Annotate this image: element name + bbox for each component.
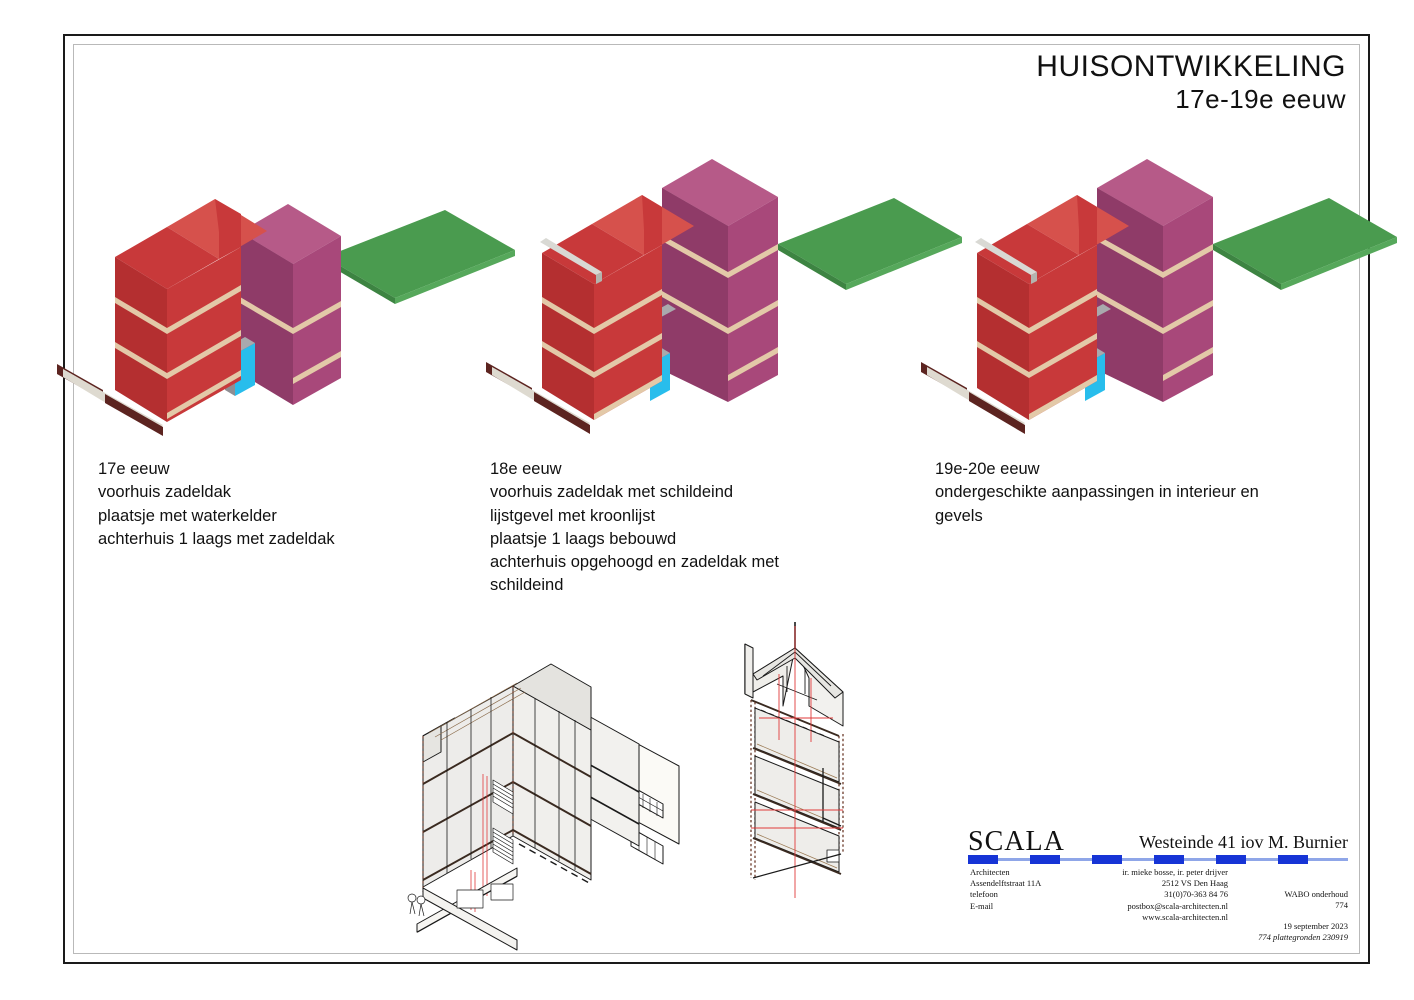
caption-line: achterhuis 1 laags met zadeldak: [98, 528, 335, 551]
phase-model-18e: [490, 132, 930, 462]
drawing-sheet: HUISONTWIKKELING 17e-19e eeuw: [63, 34, 1370, 964]
isometric-cross-section: [713, 622, 883, 922]
caption-line: 18e eeuw: [490, 458, 779, 481]
sheet-title-subtitle: 17e-19e eeuw: [1036, 84, 1346, 115]
address-row: www.scala-architecten.nl: [970, 912, 1228, 923]
drawing-filename: 774 plattegronden 230919: [1258, 932, 1348, 943]
titleblock-rule: [968, 855, 1348, 864]
address-label: [970, 912, 1054, 923]
caption-line: 17e eeuw: [98, 458, 335, 481]
titleblock-header: SCALA Westeinde 41 iov M. Burnier: [968, 820, 1348, 854]
titleblock: SCALA Westeinde 41 iov M. Burnier Archit…: [968, 820, 1348, 930]
project-number: 774: [1258, 900, 1348, 911]
project-title: Westeinde 41 iov M. Burnier: [1139, 832, 1348, 853]
titleblock-body: Architecten ir. mieke bosse, ir. peter d…: [968, 867, 1348, 929]
address-label: telefoon: [970, 889, 1054, 900]
phase-caption-17e: 17e eeuw voorhuis zadeldak plaatsje met …: [98, 458, 335, 551]
sheet-title: HUISONTWIKKELING 17e-19e eeuw: [1036, 50, 1346, 115]
titleblock-metadata: WABO onderhoud 774 19 september 2023 774…: [1258, 889, 1348, 944]
address-row: telefoon 31(0)70-363 84 76: [970, 889, 1228, 900]
rear-flat-roof-green: [1213, 198, 1397, 290]
caption-line: ondergeschikte aanpassingen in interieur…: [935, 481, 1259, 504]
phase-caption-19e: 19e-20e eeuw ondergeschikte aanpassingen…: [935, 458, 1259, 528]
address-value: 31(0)70-363 84 76: [1054, 889, 1228, 900]
caption-line: plaatsje met waterkelder: [98, 505, 335, 528]
caption-line: lijstgevel met kroonlijst: [490, 505, 779, 528]
caption-line: plaatsje 1 laags bebouwd: [490, 528, 779, 551]
phase-model-row: [65, 132, 1368, 462]
rear-flat-roof-green: [325, 210, 515, 304]
caption-line: gevels: [935, 505, 1259, 528]
address-value: ir. mieke bosse, ir. peter drijver: [1054, 867, 1228, 878]
rear-volume-purple-raised: [662, 159, 778, 402]
website-value[interactable]: www.scala-architecten.nl: [1054, 912, 1228, 923]
office-address: Architecten ir. mieke bosse, ir. peter d…: [970, 867, 1228, 923]
address-label: Architecten: [970, 867, 1054, 878]
address-label: Assendelftstraat 11A: [970, 878, 1054, 889]
caption-line: schildeind: [490, 574, 779, 597]
project-name: WABO onderhoud: [1258, 889, 1348, 900]
address-row: Architecten ir. mieke bosse, ir. peter d…: [970, 867, 1228, 878]
phase-model-17e: [45, 132, 485, 462]
address-row: E-mail postbox@scala-architecten.nl: [970, 901, 1228, 912]
address-row: Assendelftstraat 11A 2512 VS Den Haag: [970, 878, 1228, 889]
caption-line: voorhuis zadeldak met schildeind: [490, 481, 779, 504]
caption-line: voorhuis zadeldak: [98, 481, 335, 504]
sheet-title-main: HUISONTWIKKELING: [1036, 50, 1346, 84]
address-label: E-mail: [970, 901, 1054, 912]
phase-caption-18e: 18e eeuw voorhuis zadeldak met schildein…: [490, 458, 779, 598]
office-logo-text: SCALA: [968, 828, 1065, 856]
phase-model-19e: [925, 132, 1365, 462]
caption-line: 19e-20e eeuw: [935, 458, 1259, 481]
caption-line: achterhuis opgehoogd en zadeldak met: [490, 551, 779, 574]
email-value[interactable]: postbox@scala-architecten.nl: [1054, 901, 1228, 912]
rear-volume-purple-raised: [1097, 159, 1213, 402]
isometric-longitudinal-section: [395, 632, 725, 982]
drawing-date: 19 september 2023: [1258, 921, 1348, 932]
address-value: 2512 VS Den Haag: [1054, 878, 1228, 889]
